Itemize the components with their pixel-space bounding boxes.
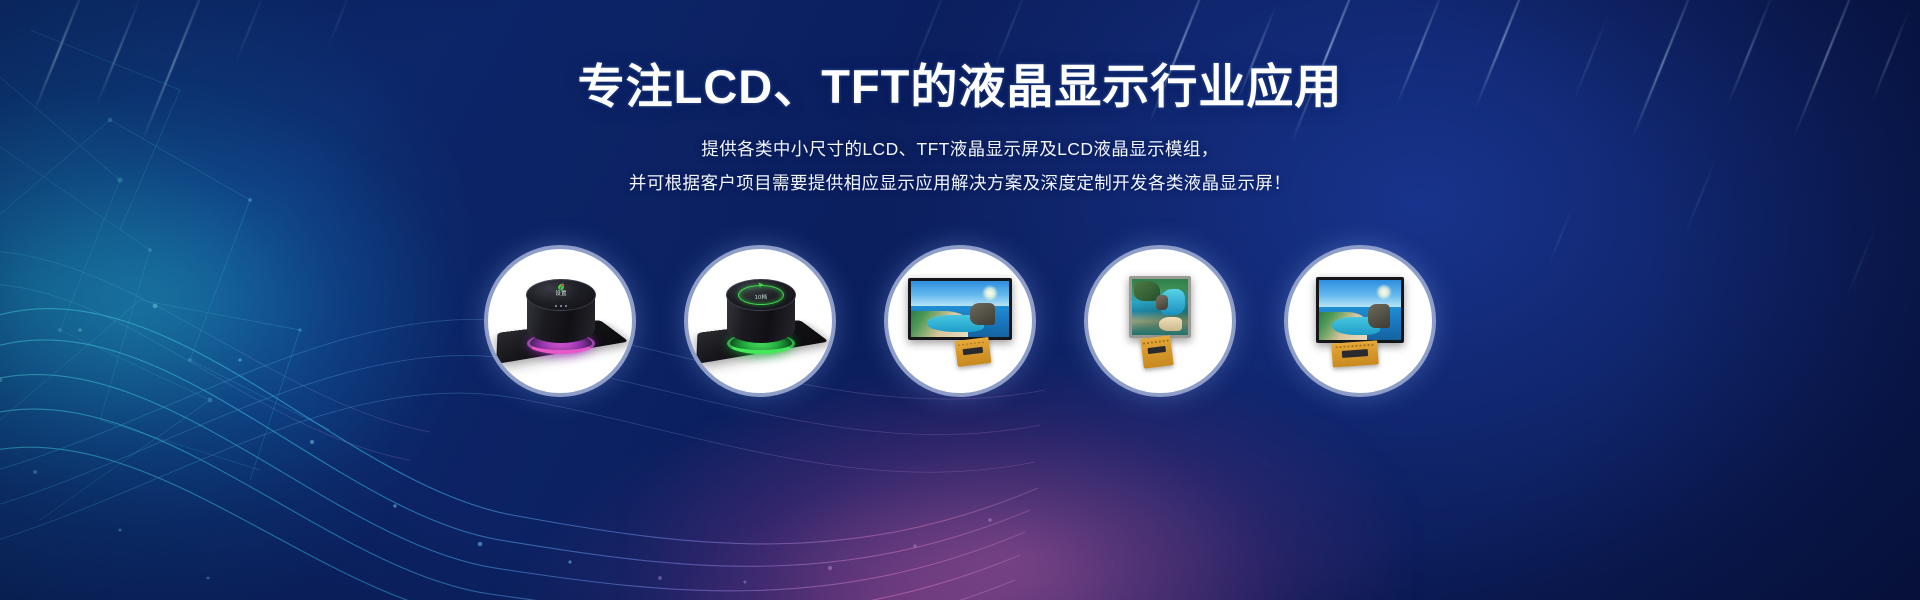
hub-screen-label: 10档 [755, 296, 768, 302]
hub-indicator-dots [555, 305, 567, 307]
lcd-panel [1129, 276, 1191, 367]
banner-text-block: 专注LCD、TFT的液晶显示行业应用 提供各类中小尺寸的LCD、TFT液晶显示屏… [0, 62, 1920, 200]
product-circles-row: 设置 [0, 245, 1920, 397]
cursor-icon [757, 281, 766, 289]
screen-image-rock [1368, 304, 1389, 328]
subtitle-line-1: 提供各类中小尺寸的LCD、TFT液晶显示屏及LCD液晶显示模组， [0, 132, 1920, 166]
lcd-screen [1316, 277, 1404, 343]
hero-banner: 专注LCD、TFT的液晶显示行业应用 提供各类中小尺寸的LCD、TFT液晶显示屏… [0, 0, 1920, 600]
light-streak [325, 0, 357, 52]
hub-top-display: 设置 [526, 279, 596, 311]
lcd-panel [1316, 277, 1404, 366]
banner-subtitle: 提供各类中小尺寸的LCD、TFT液晶显示屏及LCD液晶显示模组， 并可根据客户项… [0, 132, 1920, 200]
fpc-traces [1335, 344, 1374, 348]
lcd-screen [1129, 276, 1191, 338]
hub-top-display: 10档 [726, 279, 796, 311]
page-title: 专注LCD、TFT的液晶显示行业应用 [0, 62, 1920, 113]
smart-hub-device: 10档 [694, 265, 826, 377]
screen-image-rock [1156, 295, 1168, 310]
leaf-icon [557, 283, 566, 291]
screen-image-rock [970, 303, 995, 325]
subtitle-line-2: 并可根据客户项目需要提供相应显示应用解决方案及深度定制开发各类液晶显示屏！ [0, 166, 1920, 200]
product-circle-tft-lcd-square[interactable] [1084, 245, 1236, 397]
hub-screen-label: 设置 [555, 292, 567, 298]
lcd-panel [908, 278, 1012, 365]
fpc-ribbon-cable [1331, 340, 1379, 367]
screen-image-aerial [1132, 279, 1188, 335]
product-circle-smart-hub-purple[interactable]: 设置 [484, 245, 636, 397]
product-circle-smart-hub-green[interactable]: 10档 [684, 245, 836, 397]
fpc-ribbon-cable [955, 337, 992, 367]
driver-chip [1342, 349, 1368, 358]
fpc-traces [958, 340, 987, 345]
driver-chip [963, 346, 984, 354]
screen-image-sand [1159, 317, 1183, 332]
smart-hub-device: 设置 [494, 265, 626, 377]
product-circle-tft-lcd-widescreen[interactable] [884, 245, 1036, 397]
product-circle-tft-lcd-module[interactable] [1284, 245, 1436, 397]
lcd-screen [908, 278, 1012, 340]
fpc-traces [1143, 339, 1168, 344]
driver-chip [1147, 346, 1166, 354]
light-streak [233, 0, 269, 67]
fpc-ribbon-cable [1140, 335, 1173, 368]
hub-dial-gauge: 10档 [738, 285, 784, 305]
